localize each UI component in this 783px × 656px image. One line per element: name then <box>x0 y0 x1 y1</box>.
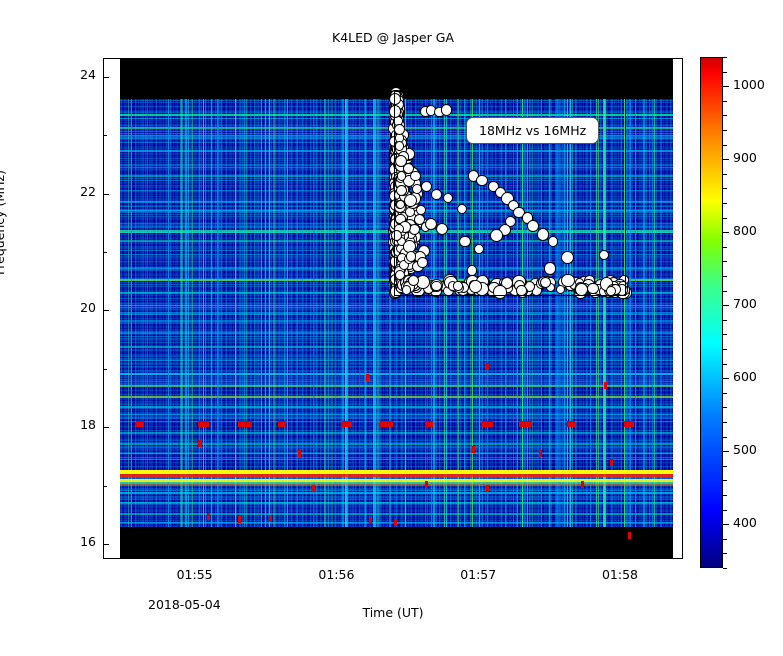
colorbar-tick-label: 800 <box>733 223 757 238</box>
colorbar-tick-minor <box>723 349 727 350</box>
carrier-block <box>482 421 493 427</box>
x-tick-minor <box>408 555 409 558</box>
colorbar-tick-major <box>723 159 729 160</box>
y-tick-minor <box>104 486 107 487</box>
x-tick-label: 01:56 <box>306 567 366 582</box>
colorbar-tick-minor <box>723 495 727 496</box>
x-tick-minor <box>515 555 516 558</box>
carrier-block <box>624 421 635 427</box>
colorbar-tick-minor <box>723 276 727 277</box>
colorbar-tick-minor <box>723 364 727 365</box>
noise-floor-band <box>120 527 673 559</box>
carrier-block <box>519 421 532 427</box>
colorbar-tick-major <box>723 451 729 452</box>
colorbar-tick-minor <box>723 145 727 146</box>
carrier-block <box>628 532 631 539</box>
y-axis-label: Frequency (MHz) <box>0 170 7 275</box>
colorbar-tick-minor <box>723 291 727 292</box>
x-tick-minor <box>267 555 268 558</box>
carrier-block <box>238 421 251 427</box>
colorbar-tick-major <box>723 378 729 379</box>
x-tick-major <box>196 553 197 558</box>
carrier-block <box>539 450 542 457</box>
x-tick-minor <box>125 555 126 558</box>
y-tick-label: 22 <box>80 184 96 199</box>
x-tick-label: 01:57 <box>448 567 508 582</box>
colorbar-tick-minor <box>723 101 727 102</box>
carrier-block <box>380 421 393 427</box>
colorbar-tick-label: 500 <box>733 442 757 457</box>
page-title: K4LED @ Jasper GA <box>103 30 683 45</box>
carrier-block <box>342 421 353 427</box>
x-tick-minor <box>444 555 445 558</box>
y-tick-major <box>104 310 109 311</box>
x-tick-minor <box>302 555 303 558</box>
carrier-block <box>472 446 475 453</box>
carrier-block <box>581 481 584 488</box>
carrier-block <box>198 440 201 447</box>
x-tick-minor <box>656 555 657 558</box>
spectral-line <box>120 484 673 486</box>
carrier-block <box>425 421 433 427</box>
colorbar-tick-minor <box>723 568 727 569</box>
colorbar-tick-major <box>723 305 729 306</box>
carrier-block <box>312 485 315 492</box>
carrier-block <box>567 421 575 427</box>
y-tick-label: 20 <box>80 300 96 315</box>
colorbar-tick-minor <box>723 188 727 189</box>
colorbar-tick-minor <box>723 539 727 540</box>
colorbar-tick-label: 700 <box>733 296 757 311</box>
carrier-block <box>366 374 369 381</box>
spectrogram-figure: K4LED @ Jasper GA 18MHz vs 16MHz 1618202… <box>0 0 783 656</box>
colorbar-tick-label: 900 <box>733 150 757 165</box>
x-tick-label: 01:58 <box>590 567 650 582</box>
colorbar-tick-major <box>723 86 729 87</box>
colorbar-tick-minor <box>723 115 727 116</box>
colorbar-tick-minor <box>723 320 727 321</box>
colorbar-tick-label: 1000 <box>733 77 765 92</box>
carrier-block <box>136 421 144 427</box>
carrier-block <box>207 513 210 520</box>
carrier-block <box>486 485 489 492</box>
carrier-block <box>394 519 397 526</box>
x-tick-label: 01:55 <box>165 567 225 582</box>
y-tick-label: 16 <box>80 534 96 549</box>
y-tick-minor <box>104 252 107 253</box>
colorbar-tick-minor <box>723 130 727 131</box>
colorbar-tick-label: 400 <box>733 515 757 530</box>
x-tick-minor <box>160 555 161 558</box>
carrier-block <box>610 459 613 466</box>
colorbar-tick-minor <box>723 334 727 335</box>
x-tick-major <box>479 553 480 558</box>
colorbar-tick-minor <box>723 510 727 511</box>
x-tick-minor <box>586 555 587 558</box>
colorbar-tick-minor <box>723 57 727 58</box>
carrier-block <box>269 515 272 522</box>
carrier-block <box>425 481 428 488</box>
x-tick-minor <box>550 555 551 558</box>
y-tick-label: 18 <box>80 417 96 432</box>
colorbar-tick-minor <box>723 247 727 248</box>
x-tick-minor <box>373 555 374 558</box>
spectral-line <box>120 479 673 482</box>
carrier-block <box>198 421 209 427</box>
y-tick-minor <box>104 369 107 370</box>
colorbar-tick-minor <box>723 407 727 408</box>
y-tick-minor <box>104 135 107 136</box>
colorbar-tick-minor <box>723 218 727 219</box>
carrier-block <box>298 450 301 457</box>
y-tick-major <box>104 77 109 78</box>
y-tick-major <box>104 544 109 545</box>
colorbar-tick-minor <box>723 422 727 423</box>
carrier-block <box>369 517 372 524</box>
colorbar-tick-minor <box>723 553 727 554</box>
carrier-block <box>238 516 241 523</box>
colorbar-tick-minor <box>723 261 727 262</box>
carrier-block <box>604 382 607 389</box>
colorbar-tick-minor <box>723 393 727 394</box>
annotation-label: 18MHz vs 16MHz <box>466 117 599 144</box>
date-label: 2018-05-04 <box>148 597 221 612</box>
colorbar-tick-label: 600 <box>733 369 757 384</box>
colorbar-tick-major <box>723 524 729 525</box>
colorbar-tick-minor <box>723 466 727 467</box>
spectral-line <box>120 474 673 477</box>
y-tick-major <box>104 427 109 428</box>
colorbar-tick-minor <box>723 174 727 175</box>
x-tick-major <box>621 553 622 558</box>
colorbar-tick-minor <box>723 203 727 204</box>
colorbar-tick-minor <box>723 437 727 438</box>
colorbar-tick-minor <box>723 480 727 481</box>
colorbar <box>700 57 723 568</box>
colorbar-tick-minor <box>723 72 727 73</box>
colorbar-tick-major <box>723 232 729 233</box>
carrier-block <box>486 363 489 370</box>
x-tick-major <box>337 553 338 558</box>
carrier-block <box>278 421 286 427</box>
y-tick-label: 24 <box>80 67 96 82</box>
y-tick-major <box>104 194 109 195</box>
x-tick-minor <box>231 555 232 558</box>
